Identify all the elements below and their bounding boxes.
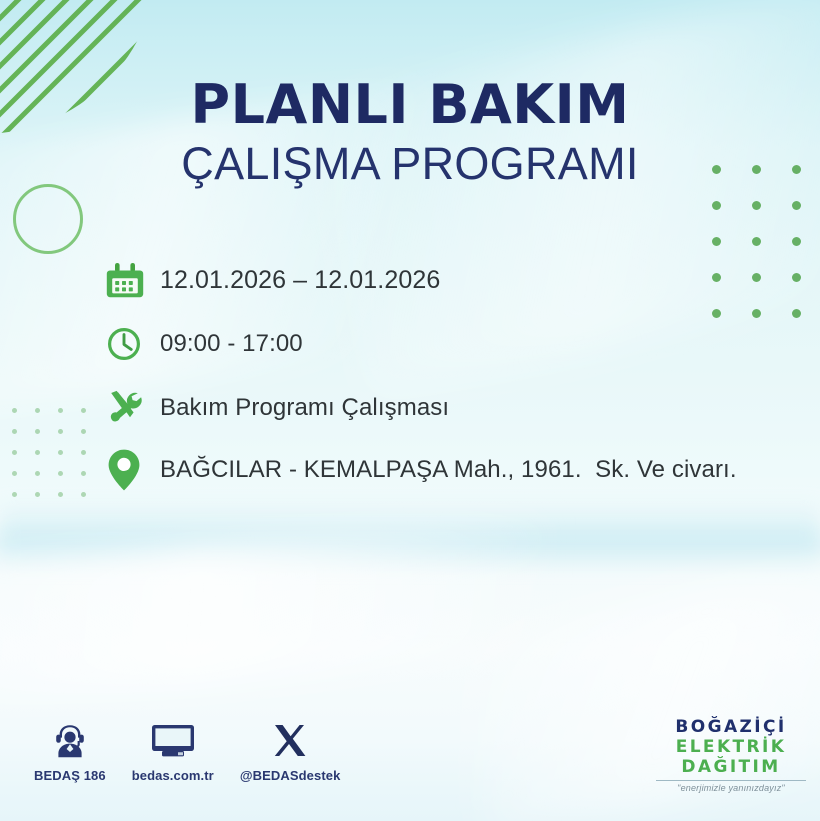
company-logo: BOĞAZİÇİ ELEKTRİK DAĞITIM "enerjimizle y…: [656, 717, 806, 793]
brand-line-elektrik: ELEKTRİK: [656, 737, 806, 757]
detail-time-range: 09:00 - 17:00: [160, 330, 303, 358]
x-twitter-icon: [271, 719, 309, 761]
detail-row-time: 09:00 - 17:00: [106, 316, 806, 372]
detail-row-work-type: Bakım Programı Çalışması: [106, 380, 806, 436]
brand-line-bogazici: BOĞAZİÇİ: [656, 717, 806, 737]
detail-date-range: 12.01.2026 – 12.01.2026: [160, 266, 440, 295]
tools-icon: [106, 389, 160, 427]
location-pin-icon: [106, 448, 160, 492]
detail-row-location: BAĞCILAR - KEMALPAŞA Mah., 1961. Sk. Ve …: [106, 442, 806, 498]
detail-row-date: 12.01.2026 – 12.01.2026: [106, 252, 806, 308]
background-light-streak: [0, 510, 585, 710]
contact-x-account[interactable]: @BEDASdestek: [240, 719, 341, 783]
page-subtitle: ÇALIŞMA PROGRAMI: [0, 140, 820, 189]
page-title: PLANLI BAKIM: [0, 78, 820, 132]
contact-website[interactable]: bedas.com.tr: [132, 719, 214, 783]
contact-channels: BEDAŞ 186 bedas.com.tr: [34, 719, 366, 783]
dot-grid-decoration-left: [12, 408, 104, 513]
monitor-icon: [149, 719, 197, 761]
contact-website-label: bedas.com.tr: [132, 768, 214, 783]
clock-icon: [106, 326, 160, 362]
headset-operator-icon: [50, 719, 90, 761]
poster-header: PLANLI BAKIM ÇALIŞMA PROGRAMI: [0, 78, 820, 189]
planned-maintenance-poster: PLANLI BAKIM ÇALIŞMA PROGRAMI: [0, 0, 820, 821]
detail-location: BAĞCILAR - KEMALPAŞA Mah., 1961. Sk. Ve …: [160, 456, 737, 484]
background-light-streak: [0, 500, 820, 570]
calendar-icon: [106, 261, 160, 299]
contact-phone-label: BEDAŞ 186: [34, 768, 106, 783]
circle-outline-decoration: [13, 184, 83, 254]
contact-phone[interactable]: BEDAŞ 186: [34, 719, 106, 783]
poster-footer: BEDAŞ 186 bedas.com.tr: [0, 711, 820, 821]
brand-tagline: "enerjimizle yanınızdayız": [656, 780, 806, 793]
detail-work-type: Bakım Programı Çalışması: [160, 394, 449, 422]
maintenance-details-list: 12.01.2026 – 12.01.2026 09:00 - 17:00: [106, 252, 806, 498]
brand-line-dagitim: DAĞITIM: [656, 757, 806, 777]
contact-x-label: @BEDASdestek: [240, 768, 341, 783]
